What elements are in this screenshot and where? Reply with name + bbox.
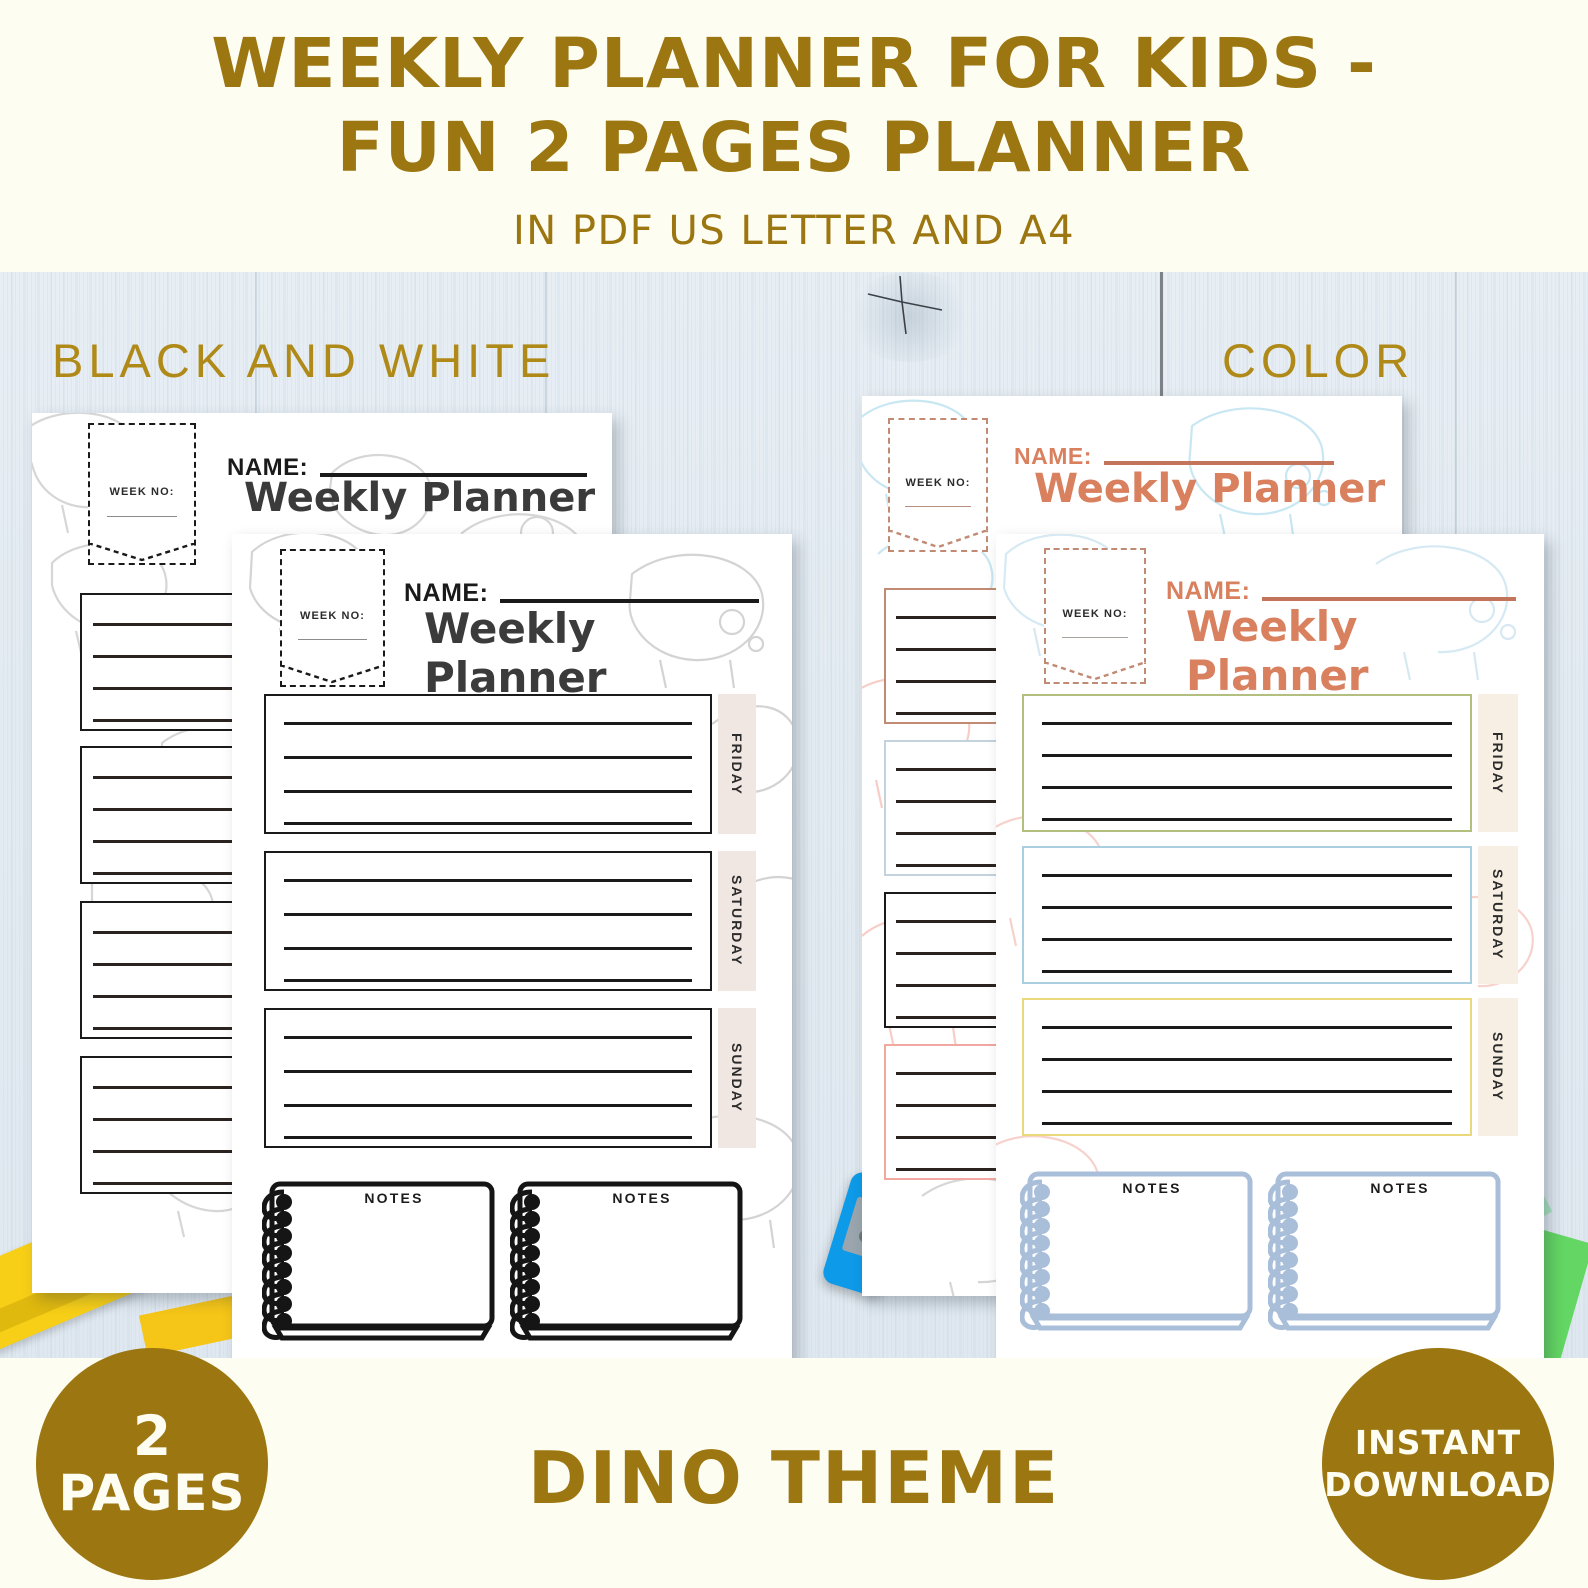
poster-header: WEEKLY PLANNER FOR KIDS - FUN 2 PAGES PL…	[0, 0, 1588, 272]
notes-notebook[interactable]: NOTES	[510, 1168, 748, 1346]
planner-title: Weekly Planner	[1034, 466, 1385, 512]
day-block-friday[interactable]	[1022, 694, 1472, 832]
banner-notch-icon	[88, 543, 196, 565]
name-row[interactable]: NAME:	[1166, 572, 1516, 606]
day-tab-saturday: SATURDAY	[718, 851, 756, 991]
banner-notch-icon	[888, 530, 988, 552]
planner-title: Weekly Planner	[1186, 602, 1544, 700]
week-no-input-line[interactable]	[1062, 637, 1129, 638]
label-color: COLOR	[1222, 333, 1414, 388]
wood-crack	[850, 272, 960, 342]
badge-instant-line2: DOWNLOAD	[1324, 1464, 1551, 1506]
notes-label: NOTES	[1268, 1180, 1506, 1196]
label-black-and-white: BLACK AND WHITE	[52, 333, 555, 388]
day-label: SATURDAY	[1490, 869, 1506, 960]
planner-title: Weekly Planner	[244, 475, 595, 521]
day-block-sunday[interactable]	[1022, 998, 1472, 1136]
week-no-banner[interactable]: WEEK NO:	[280, 549, 385, 687]
badge-instant-download: INSTANT DOWNLOAD	[1322, 1348, 1554, 1580]
week-no-label: WEEK NO:	[1046, 608, 1144, 620]
badge-pages-count: 2	[133, 1407, 171, 1465]
planner-title: Weekly Planner	[424, 604, 792, 702]
notes-label: NOTES	[510, 1190, 748, 1206]
day-block-saturday[interactable]	[264, 851, 712, 991]
day-tab-sunday: SUNDAY	[1478, 998, 1518, 1136]
name-input-line[interactable]	[1104, 461, 1334, 465]
badge-pages: 2 PAGES	[36, 1348, 268, 1580]
day-label: FRIDAY	[1490, 732, 1506, 795]
day-block-sunday[interactable]	[264, 1008, 712, 1148]
color-front-sheet[interactable]: WEEK NO: NAME: Weekly Planner FRIDAY	[996, 534, 1544, 1358]
week-no-banner[interactable]: WEEK NO:	[88, 423, 196, 565]
name-input-line[interactable]	[1262, 597, 1516, 601]
day-label: SUNDAY	[1490, 1032, 1506, 1102]
day-block-saturday[interactable]	[1022, 846, 1472, 984]
notes-label: NOTES	[1020, 1180, 1258, 1196]
day-label: FRIDAY	[729, 733, 745, 796]
title-line-1: WEEKLY PLANNER FOR KIDS -	[0, 22, 1588, 106]
page-title: WEEKLY PLANNER FOR KIDS - FUN 2 PAGES PL…	[0, 0, 1588, 190]
name-input-line[interactable]	[500, 599, 759, 603]
day-label: SUNDAY	[729, 1043, 745, 1113]
badge-instant-line1: INSTANT	[1355, 1422, 1521, 1464]
badge-pages-label: PAGES	[59, 1465, 246, 1521]
week-no-banner[interactable]: WEEK NO:	[1044, 548, 1146, 684]
notes-notebook[interactable]: NOTES	[1020, 1158, 1258, 1336]
name-row[interactable]: NAME:	[404, 574, 759, 608]
bw-front-sheet[interactable]: WEEK NO: NAME: Weekly Planner FRIDAY	[232, 534, 792, 1358]
photo-backdrop: BLACK AND WHITE COLOR	[0, 272, 1588, 1358]
week-no-label: WEEK NO:	[90, 486, 194, 498]
notes-notebook[interactable]: NOTES	[262, 1168, 500, 1346]
day-tab-sunday: SUNDAY	[718, 1008, 756, 1148]
poster-root: WEEKLY PLANNER FOR KIDS - FUN 2 PAGES PL…	[0, 0, 1588, 1588]
day-label: SATURDAY	[729, 875, 745, 966]
banner-notch-icon	[1044, 662, 1146, 684]
title-line-2: FUN 2 PAGES PLANNER	[0, 106, 1588, 190]
week-no-label: WEEK NO:	[890, 477, 986, 489]
page-subtitle: IN PDF US LETTER AND A4	[0, 208, 1588, 254]
day-block-friday[interactable]	[264, 694, 712, 834]
week-no-input-line[interactable]	[107, 516, 178, 517]
notes-notebook[interactable]: NOTES	[1268, 1158, 1506, 1336]
week-no-label: WEEK NO:	[282, 610, 383, 622]
week-no-banner[interactable]: WEEK NO:	[888, 418, 988, 552]
banner-notch-icon	[280, 665, 385, 687]
day-tab-friday: FRIDAY	[1478, 694, 1518, 832]
notes-label: NOTES	[262, 1190, 500, 1206]
week-no-input-line[interactable]	[298, 639, 367, 640]
week-no-input-line[interactable]	[905, 506, 970, 507]
day-tab-saturday: SATURDAY	[1478, 846, 1518, 984]
day-tab-friday: FRIDAY	[718, 694, 756, 834]
